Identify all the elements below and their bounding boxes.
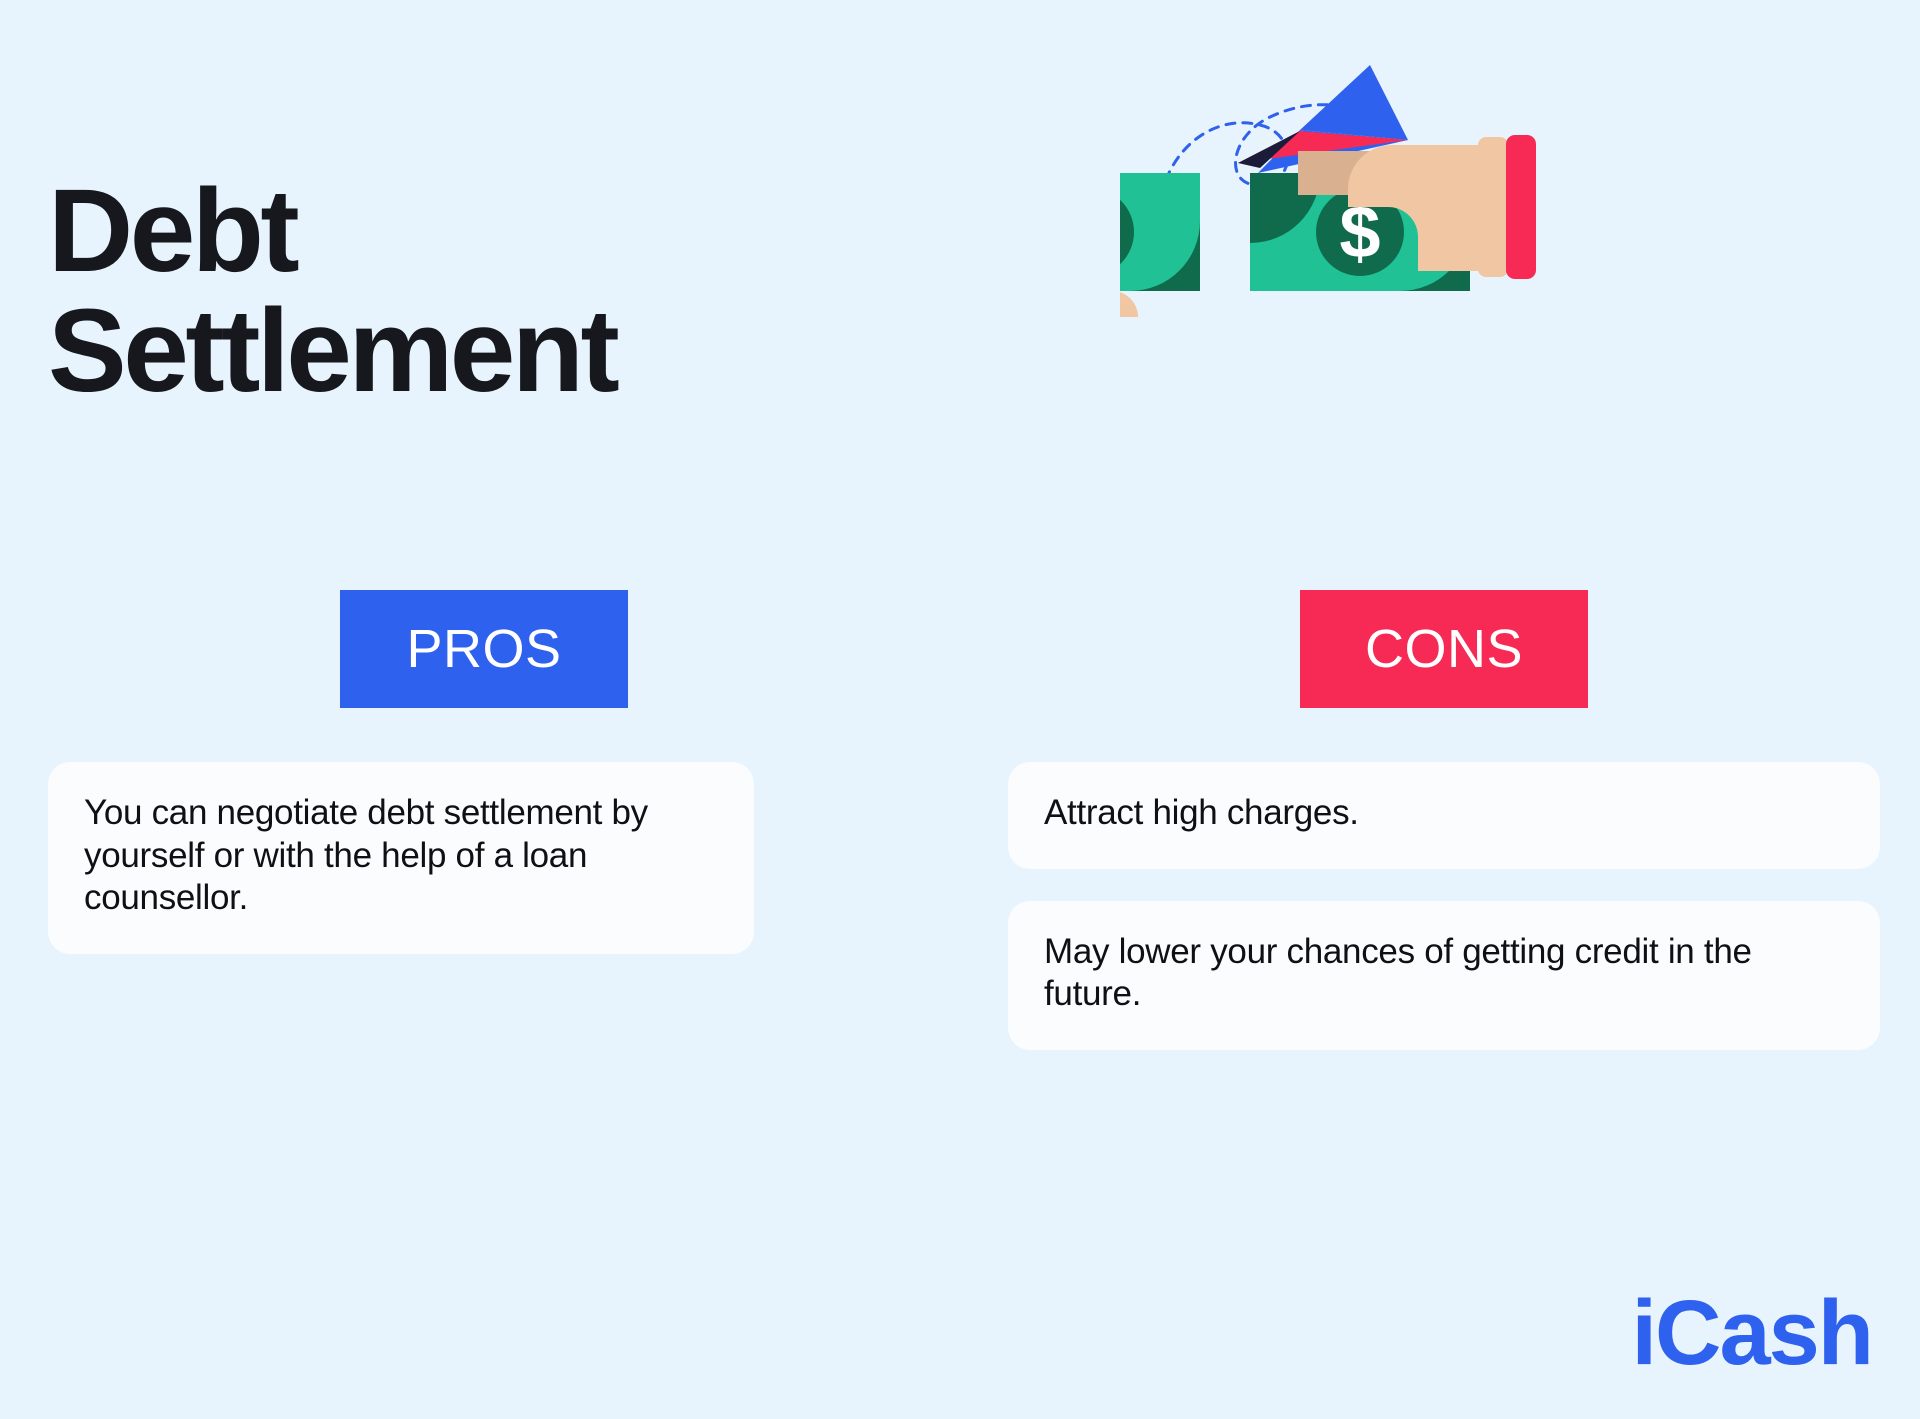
- pros-column: PROS You can negotiate debt settlement b…: [48, 590, 920, 986]
- cash-exchange-illustration: $ $: [1120, 55, 1880, 355]
- cons-column: CONS Attract high charges. May lower you…: [1008, 590, 1880, 1082]
- cons-item-2: May lower your chances of getting credit…: [1008, 901, 1880, 1050]
- cons-badge: CONS: [1300, 590, 1588, 708]
- page-title: Debt Settlement: [48, 171, 928, 412]
- cons-item-1: Attract high charges.: [1008, 762, 1880, 869]
- cash-exchange-svg: $ $: [1120, 55, 1880, 355]
- right-sleeve: [1506, 135, 1536, 279]
- pros-badge: PROS: [340, 590, 628, 708]
- infographic-canvas: Debt Settlement: [0, 0, 1920, 1419]
- pros-item-1: You can negotiate debt settlement by you…: [48, 762, 754, 954]
- icash-logo: iCash: [1631, 1287, 1872, 1379]
- left-banknote: $: [1120, 173, 1200, 291]
- left-hand-with-banknote: $: [1120, 173, 1200, 317]
